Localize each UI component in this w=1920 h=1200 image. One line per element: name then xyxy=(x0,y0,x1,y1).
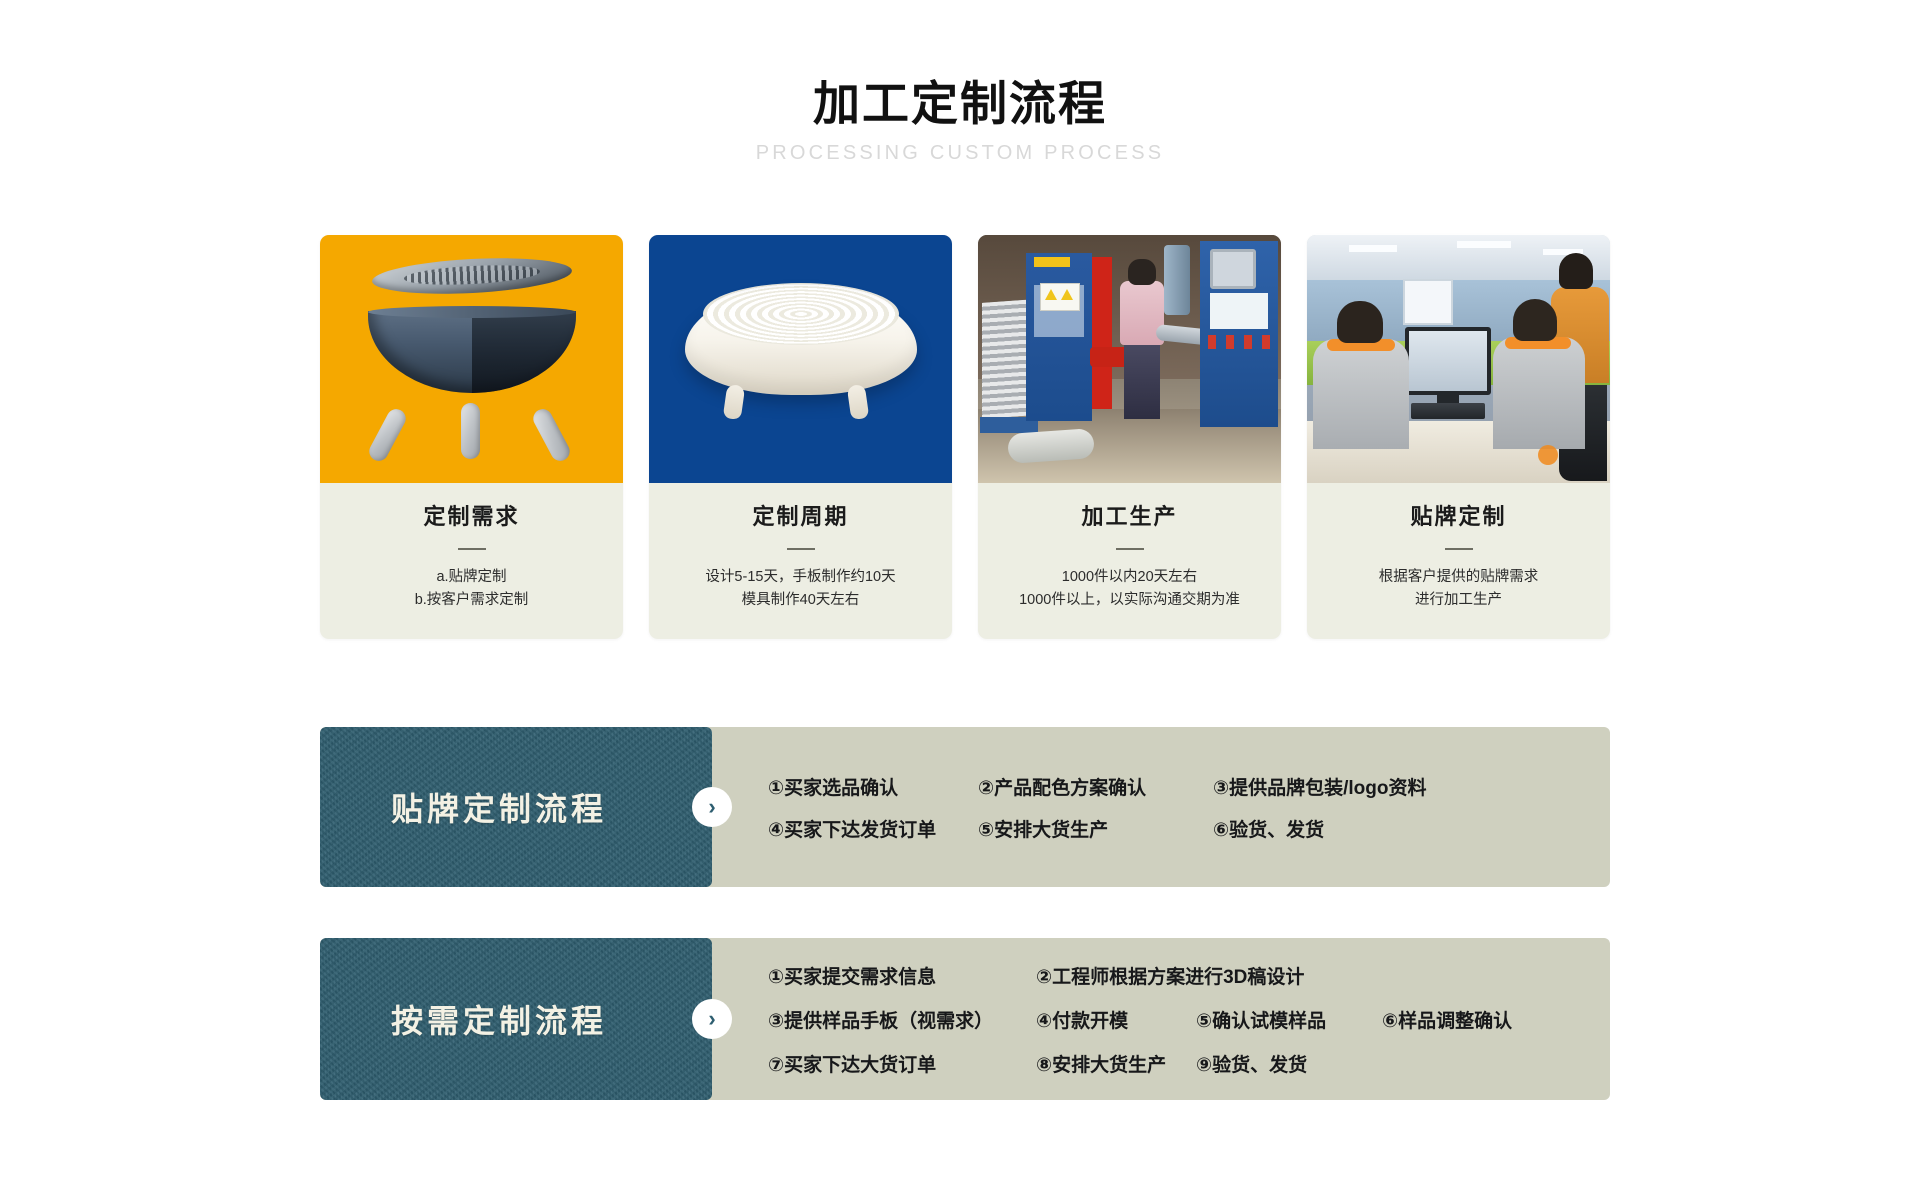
process-card-2[interactable]: 定制周期 设计5-15天，手板制作约10天 模具制作40天左右 xyxy=(649,235,952,639)
factory-worker-legs xyxy=(1124,343,1160,419)
card-1-title: 定制需求 xyxy=(334,503,609,532)
card-2-description: 设计5-15天，手板制作约10天 模具制作40天左右 xyxy=(663,566,938,613)
office-watermark-logo-icon xyxy=(1538,445,1558,465)
office-wall-board xyxy=(1403,279,1453,325)
office-monitor xyxy=(1405,327,1491,395)
ondemand-process-label: 按需定制流程 xyxy=(391,996,641,1042)
card-2-body: 定制周期 设计5-15天，手板制作约10天 模具制作40天左右 xyxy=(649,483,952,639)
factory-warning-sign xyxy=(1040,283,1080,311)
ondemand-process-banner: 按需定制流程 › ①买家提交需求信息 ②工程师根据方案进行3D稿设计 ③提供样品… xyxy=(320,938,1610,1100)
factory-cylinder xyxy=(1164,245,1190,315)
card-2-desc-line-1: 设计5-15天，手板制作约10天 xyxy=(663,566,938,589)
oem-step-row-2: ④买家下达发货订单 ⑤安排大货生产 ⑥验货、发货 xyxy=(768,807,1584,849)
card-1-image-exploded-product xyxy=(320,235,623,483)
ondemand-step-row-2: ③提供样品手板（视需求） ④付款开模 ⑤确认试模样品 ⑥样品调整确认 xyxy=(768,997,1584,1041)
oem-step-4: ④买家下达发货订单 xyxy=(768,815,978,842)
factory-control-buttons xyxy=(1208,335,1274,349)
ceramic-leg-right xyxy=(847,384,870,420)
card-3-desc-line-1: 1000件以内20天左右 xyxy=(992,566,1267,589)
chevron-right-icon[interactable]: › xyxy=(692,999,732,1039)
oem-step-row-1: ①买家选品确认 ②产品配色方案确认 ③提供品牌包装/logo资料 xyxy=(768,765,1584,807)
card-3-divider xyxy=(1116,548,1144,550)
page-subtitle: PROCESSING CUSTOM PROCESS xyxy=(0,142,1920,165)
factory-control-panel xyxy=(1210,293,1268,329)
page-header: 加工定制流程 PROCESSING CUSTOM PROCESS xyxy=(0,0,1920,165)
card-1-desc-line-2: b.按客户需求定制 xyxy=(334,589,609,612)
office-person-3-head xyxy=(1559,253,1593,289)
oem-process-steps: ①买家选品确认 ②产品配色方案确认 ③提供品牌包装/logo资料 ④买家下达发货… xyxy=(712,727,1610,887)
office-person-1-head xyxy=(1337,301,1383,343)
card-4-image-office xyxy=(1307,235,1610,483)
ondemand-step-row-1: ①买家提交需求信息 ②工程师根据方案进行3D稿设计 xyxy=(768,953,1584,997)
chevron-right-icon[interactable]: › xyxy=(692,787,732,827)
oem-step-3: ③提供品牌包装/logo资料 xyxy=(1213,773,1426,800)
card-2-divider xyxy=(787,548,815,550)
card-2-title: 定制周期 xyxy=(663,503,938,532)
page-title: 加工定制流程 xyxy=(0,78,1920,130)
card-3-image-factory xyxy=(978,235,1281,483)
factory-molded-part xyxy=(1007,428,1095,464)
office-person-2-head xyxy=(1513,299,1557,341)
factory-machine-left xyxy=(1026,253,1092,421)
card-3-desc-line-2: 1000件以上，以实际沟通交期为准 xyxy=(992,589,1267,612)
product-lid-shape xyxy=(371,254,573,298)
process-page: 加工定制流程 PROCESSING CUSTOM PROCESS 定制需求 a.… xyxy=(0,0,1920,1200)
ondemand-step-8: ⑧安排大货生产 xyxy=(1036,1050,1196,1077)
ondemand-step-1: ①买家提交需求信息 xyxy=(768,962,1036,989)
ondemand-process-steps: ①买家提交需求信息 ②工程师根据方案进行3D稿设计 ③提供样品手板（视需求） ④… xyxy=(712,938,1610,1100)
process-card-4[interactable]: 贴牌定制 根据客户提供的贴牌需求 进行加工生产 xyxy=(1307,235,1610,639)
office-ceiling-light-2 xyxy=(1457,241,1511,248)
oem-process-label-block: 贴牌定制流程 › xyxy=(320,727,712,887)
ondemand-step-5: ⑤确认试模样品 xyxy=(1196,1006,1382,1033)
oem-step-5: ⑤安排大货生产 xyxy=(978,815,1213,842)
card-1-desc-line-1: a.贴牌定制 xyxy=(334,566,609,589)
card-4-title: 贴牌定制 xyxy=(1321,503,1596,532)
card-1-description: a.贴牌定制 b.按客户需求定制 xyxy=(334,566,609,613)
ondemand-step-4: ④付款开模 xyxy=(1036,1006,1196,1033)
oem-step-6: ⑥验货、发货 xyxy=(1213,815,1324,842)
factory-red-column xyxy=(1092,257,1112,409)
factory-machine-label xyxy=(1034,257,1070,267)
oem-step-1: ①买家选品确认 xyxy=(768,773,978,800)
card-3-body: 加工生产 1000件以内20天左右 1000件以上，以实际沟通交期为准 xyxy=(978,483,1281,639)
process-card-1[interactable]: 定制需求 a.贴牌定制 b.按客户需求定制 xyxy=(320,235,623,639)
process-card-3[interactable]: 加工生产 1000件以内20天左右 1000件以上，以实际沟通交期为准 xyxy=(978,235,1281,639)
ondemand-step-9: ⑨验货、发货 xyxy=(1196,1050,1382,1077)
product-leg-right xyxy=(530,406,573,464)
ceramic-spiral-top-shape xyxy=(703,283,899,345)
card-2-desc-line-2: 模具制作40天左右 xyxy=(663,589,938,612)
product-leg-left xyxy=(366,406,409,464)
card-4-body: 贴牌定制 根据客户提供的贴牌需求 进行加工生产 xyxy=(1307,483,1610,639)
product-bowl-shape xyxy=(368,311,576,393)
oem-process-label: 贴牌定制流程 xyxy=(391,784,641,830)
card-2-image-ceramic-product xyxy=(649,235,952,483)
ondemand-step-7: ⑦买家下达大货订单 xyxy=(768,1050,1036,1077)
card-3-title: 加工生产 xyxy=(992,503,1267,532)
ondemand-step-3: ③提供样品手板（视需求） xyxy=(768,1006,1036,1033)
factory-worker-head xyxy=(1128,259,1156,285)
ondemand-step-2: ②工程师根据方案进行3D稿设计 xyxy=(1036,962,1304,989)
office-person-1-body xyxy=(1313,339,1409,449)
oem-process-banner: 贴牌定制流程 › ①买家选品确认 ②产品配色方案确认 ③提供品牌包装/logo资… xyxy=(320,727,1610,887)
card-4-desc-line-1: 根据客户提供的贴牌需求 xyxy=(1321,566,1596,589)
process-cards-row: 定制需求 a.贴牌定制 b.按客户需求定制 定制周期 设计5-15天，手板 xyxy=(320,235,1610,639)
office-keyboard xyxy=(1411,403,1485,419)
ondemand-step-6: ⑥样品调整确认 xyxy=(1382,1006,1512,1033)
ceramic-leg-left xyxy=(723,384,746,420)
card-1-body: 定制需求 a.贴牌定制 b.按客户需求定制 xyxy=(320,483,623,639)
card-4-desc-line-2: 进行加工生产 xyxy=(1321,589,1596,612)
ondemand-process-label-block: 按需定制流程 › xyxy=(320,938,712,1100)
office-ceiling-light-1 xyxy=(1349,245,1397,252)
card-1-divider xyxy=(458,548,486,550)
ondemand-step-row-3: ⑦买家下达大货订单 ⑧安排大货生产 ⑨验货、发货 xyxy=(768,1041,1584,1085)
product-leg-center xyxy=(461,403,480,459)
card-3-description: 1000件以内20天左右 1000件以上，以实际沟通交期为准 xyxy=(992,566,1267,613)
card-4-divider xyxy=(1445,548,1473,550)
card-4-description: 根据客户提供的贴牌需求 进行加工生产 xyxy=(1321,566,1596,613)
oem-step-2: ②产品配色方案确认 xyxy=(978,773,1213,800)
factory-control-screen xyxy=(1210,249,1256,289)
office-person-2-body xyxy=(1493,337,1585,449)
